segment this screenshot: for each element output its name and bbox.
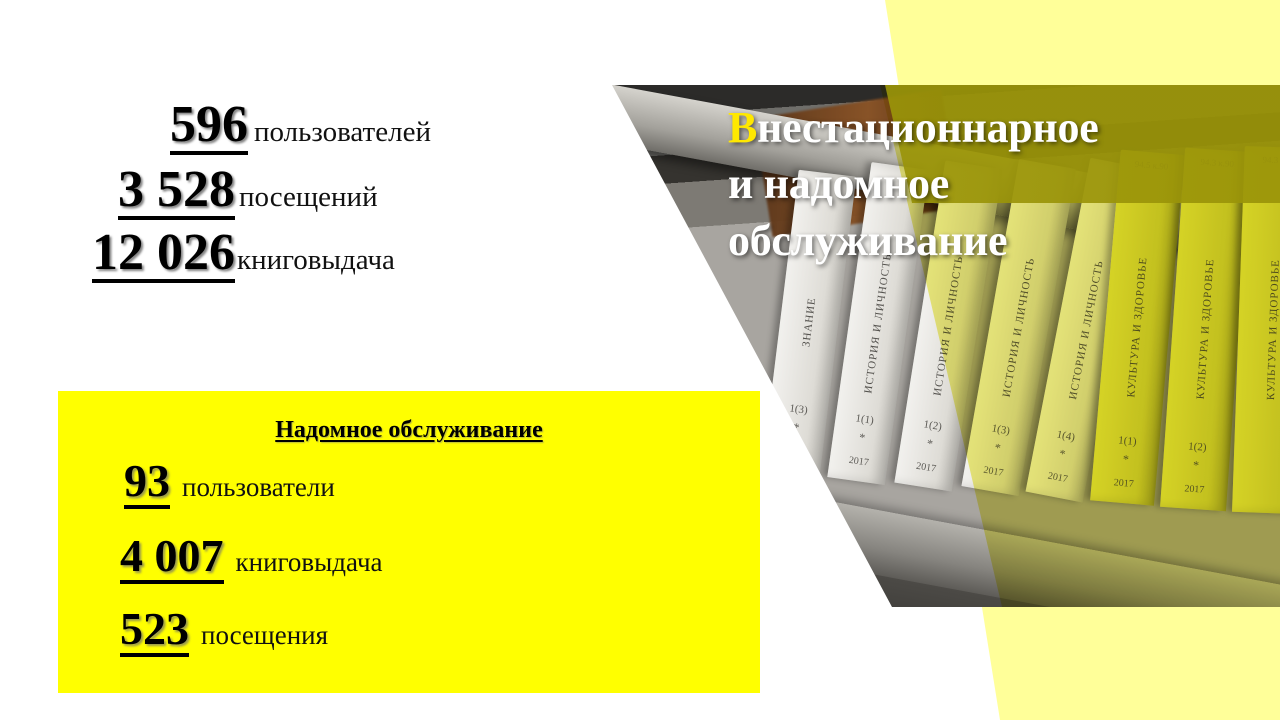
spine-call-number: 94.3 к.90 bbox=[1244, 154, 1280, 167]
statistic-value: 12 026 bbox=[92, 226, 235, 283]
spine-year: 2017 bbox=[964, 461, 1023, 482]
spine-asterisk: * bbox=[968, 436, 1028, 461]
panel-heading: Надомное обслуживание bbox=[58, 417, 760, 444]
spine-year: 2017 bbox=[897, 458, 956, 478]
spine-call-number: 94.5 к.90 bbox=[1119, 158, 1184, 174]
panel-statistic-label: книговыдача bbox=[236, 547, 383, 578]
spine-year: 2017 bbox=[1091, 475, 1156, 492]
spine-title: ИСТОРИЯ И ЛИЧНОСТЬ bbox=[862, 253, 894, 395]
spine-call-number: 94.3 к.90 bbox=[1184, 156, 1251, 171]
spine-asterisk: * bbox=[832, 426, 892, 449]
spine-year: 2017 bbox=[829, 452, 888, 471]
spine-title: КУЛЬТУРА И ЗДОРОВЬЕ bbox=[1195, 259, 1217, 401]
spine-title: ЗНАНИЕ bbox=[800, 297, 818, 348]
spine-call-number bbox=[870, 170, 927, 178]
spine-asterisk: * bbox=[1093, 449, 1158, 470]
spine-asterisk: * bbox=[1163, 456, 1230, 476]
statistic-value: 3 528 bbox=[118, 163, 235, 220]
spine-call-number bbox=[944, 168, 1001, 177]
panel-statistic-row: 4 007 книговыдача bbox=[58, 533, 760, 584]
spine-year: 2017 bbox=[1161, 482, 1228, 498]
top-statistics-group: 596 пользователей 3 528 посещений 12 026… bbox=[0, 98, 600, 283]
panel-statistic-value: 93 bbox=[124, 458, 170, 509]
spine-call-number bbox=[798, 178, 856, 185]
spine-call-number bbox=[1018, 167, 1075, 177]
spine-title: КУЛЬТУРА И ЗДОРОВЬЕ bbox=[1265, 259, 1280, 400]
home-service-panel: Надомное обслуживание 93 пользователи 4 … bbox=[58, 391, 760, 693]
panel-statistic-label: посещения bbox=[201, 620, 328, 651]
spine-title: ИСТОРИЯ И ЛИЧНОСТЬ bbox=[931, 255, 965, 397]
statistic-label: книговыдача bbox=[237, 244, 395, 277]
panel-statistic-value: 4 007 bbox=[120, 533, 224, 584]
spine-asterisk: * bbox=[900, 432, 960, 456]
spine-volume bbox=[1234, 456, 1280, 458]
statistic-label: посещений bbox=[239, 181, 378, 214]
spine-volume: 1(1) bbox=[835, 410, 894, 430]
spine-volume: 1(2) bbox=[1164, 439, 1231, 456]
spine-volume: 1(1) bbox=[1095, 432, 1160, 450]
panel-statistic-row: 93 пользователи bbox=[58, 458, 760, 509]
statistic-label: пользователей bbox=[254, 116, 431, 149]
panel-statistic-row: 523 посещения bbox=[58, 606, 760, 657]
statistic-row: 596 пользователей bbox=[0, 98, 600, 155]
panel-statistics-group: 93 пользователи 4 007 книговыдача 523 по… bbox=[58, 458, 760, 657]
spine-asterisk bbox=[1233, 476, 1280, 478]
spine-year bbox=[764, 454, 822, 461]
spine-title: ИСТОРИЯ И ЛИЧНОСТЬ bbox=[1001, 257, 1037, 399]
spine-asterisk: * bbox=[767, 417, 826, 439]
panel-statistic-value: 523 bbox=[120, 606, 189, 657]
spine-volume: 1(3) bbox=[769, 400, 828, 419]
spine-title: КУЛЬТУРА И ЗДОРОВЬЕ bbox=[1125, 257, 1149, 399]
spine-year: 2017 bbox=[1028, 467, 1087, 489]
spine-year bbox=[1233, 498, 1280, 500]
slide-canvas: ЗНАНИЕ 1(3) * ИСТОРИЯ И ЛИЧНОСТЬ 1(1) * … bbox=[0, 0, 1280, 720]
panel-statistic-label: пользователи bbox=[182, 472, 335, 503]
statistic-row: 3 528 посещений bbox=[0, 163, 600, 220]
statistic-value: 596 bbox=[170, 98, 248, 155]
statistic-row: 12 026 книговыдача bbox=[0, 226, 600, 283]
